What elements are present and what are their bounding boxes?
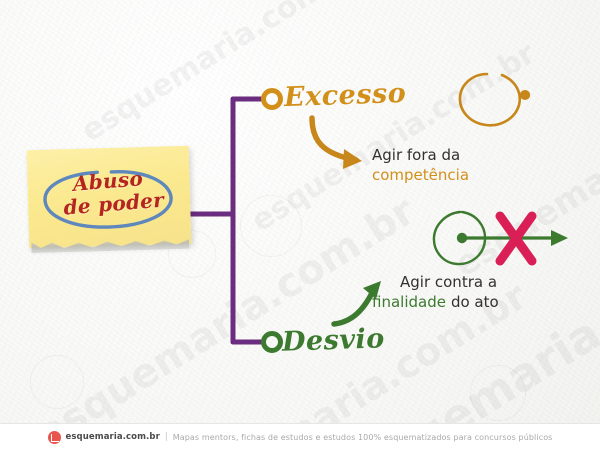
description-desvio-line1: Agir contra a [400, 272, 499, 292]
footer-bar: esquemaria.com.br | Mapas mentors, ficha… [0, 423, 600, 450]
description-excesso-highlight: competência [372, 165, 469, 185]
description-excesso: Agir fora da competência [372, 145, 469, 185]
esquemaria-logo-icon [48, 431, 61, 444]
watermark-ring [30, 355, 84, 409]
red-cross-mark-icon [500, 216, 532, 261]
branch-label-desvio[interactable]: Desvio [281, 323, 385, 358]
ring-node-icon-desvio[interactable] [264, 334, 281, 351]
branch-label-excesso[interactable]: Excesso [283, 78, 406, 113]
description-desvio-line2: finalidadedo ato [372, 292, 499, 312]
watermark-text: esquemaria.com.br [448, 55, 600, 285]
description-excesso-line1: Agir fora da [372, 145, 469, 165]
mind-map-canvas: esquemaria.com.br esquemaria.com.br esqu… [0, 0, 600, 450]
footer-content: esquemaria.com.br | Mapas mentors, ficha… [48, 431, 553, 444]
watermark-text: esquemaria.com.br [76, 0, 372, 149]
central-sticky-note[interactable]: Abuso de poder [27, 146, 192, 248]
circle-dot-arrow-crossed-icon [434, 212, 568, 264]
watermark-text: esquemaria.com.br [246, 36, 542, 239]
description-desvio-rest: do ato [451, 293, 499, 311]
footer-separator: | [165, 432, 168, 442]
description-desvio: Agir contra a finalidadedo ato [400, 272, 499, 312]
curved-arrow-down-icon [312, 118, 362, 169]
watermark-ring [240, 195, 302, 257]
ring-node-icon-excesso[interactable] [264, 91, 281, 108]
circle-with-outside-dot-icon [460, 74, 530, 125]
footer-brand-name[interactable]: esquemaria.com.br [66, 432, 160, 442]
watermark-ring [470, 365, 526, 421]
footer-tagline: Mapas mentors, fichas de estudos e estud… [173, 433, 553, 442]
green-center-dot-icon [457, 233, 467, 243]
description-desvio-highlight: finalidade [372, 293, 446, 311]
